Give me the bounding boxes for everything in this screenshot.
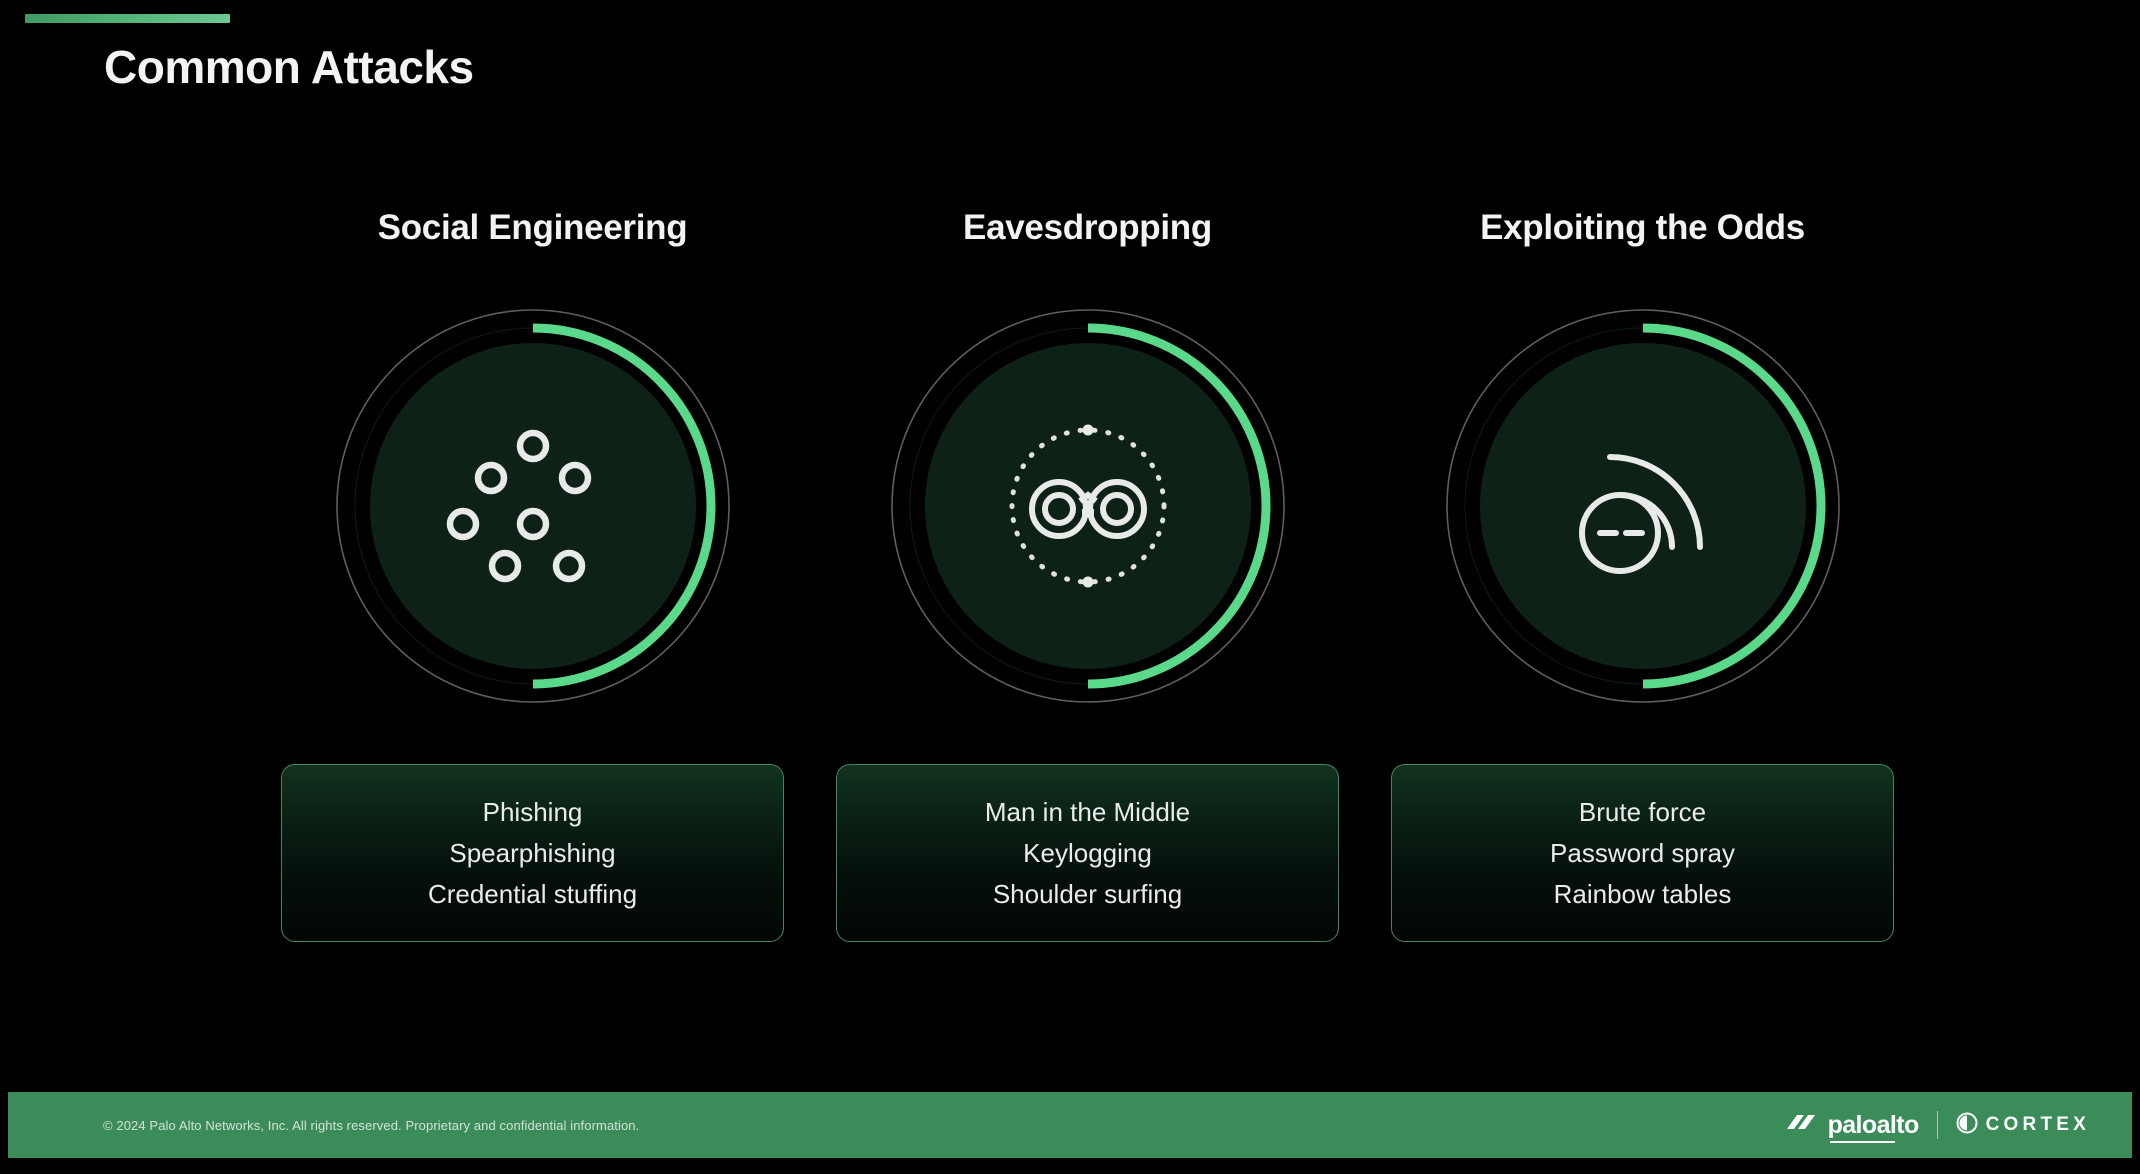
network-nodes-icon: [333, 306, 733, 706]
attack-item: Phishing: [483, 793, 583, 832]
page-title: Common Attacks: [104, 40, 474, 94]
copyright-text: © 2024 Palo Alto Networks, Inc. All righ…: [103, 1118, 639, 1133]
dial-social-engineering: [333, 306, 733, 706]
attack-item: Credential stuffing: [428, 875, 637, 914]
attack-item: Man in the Middle: [985, 793, 1190, 832]
footer-bar: © 2024 Palo Alto Networks, Inc. All righ…: [8, 1092, 2132, 1158]
attack-card: Brute force Password spray Rainbow table…: [1391, 764, 1894, 942]
attack-column-eavesdropping: Eavesdropping: [835, 205, 1340, 942]
attack-item: Shoulder surfing: [993, 875, 1182, 914]
cortex-wordmark: CORTEX: [1986, 1114, 2090, 1136]
column-heading: Social Engineering: [378, 205, 688, 251]
logo-divider: [1937, 1111, 1938, 1139]
column-heading: Eavesdropping: [963, 205, 1212, 251]
title-accent-bar: [25, 14, 230, 23]
dial-eavesdropping: [888, 306, 1288, 706]
attack-item: Spearphishing: [449, 834, 615, 873]
footer-logos: paloalto CORTEX: [1785, 1111, 2090, 1140]
attack-card: Man in the Middle Keylogging Shoulder su…: [836, 764, 1339, 942]
column-heading: Exploiting the Odds: [1480, 205, 1805, 251]
face-signal-waves-icon: [1443, 306, 1843, 706]
paloalto-chevron-icon: [1785, 1111, 1819, 1140]
cortex-logo: CORTEX: [1956, 1112, 2090, 1139]
attack-column-social-engineering: Social Engineering: [280, 205, 785, 942]
attack-item: Rainbow tables: [1554, 875, 1732, 914]
paloalto-wordmark: paloalto: [1828, 1111, 1919, 1140]
paloalto-logo: paloalto: [1785, 1111, 1919, 1140]
attack-columns: Social Engineering: [280, 205, 1895, 942]
attack-item: Brute force: [1579, 793, 1706, 832]
cortex-mark-icon: [1956, 1112, 1978, 1139]
dial-exploiting-the-odds: [1443, 306, 1843, 706]
attack-card: Phishing Spearphishing Credential stuffi…: [281, 764, 784, 942]
attack-item: Keylogging: [1023, 834, 1152, 873]
binoculars-orbit-icon: [888, 306, 1288, 706]
attack-column-exploiting-the-odds: Exploiting the Odds: [1390, 205, 1895, 942]
slide: Common Attacks Social Engineering: [0, 0, 2140, 1174]
attack-item: Password spray: [1550, 834, 1735, 873]
